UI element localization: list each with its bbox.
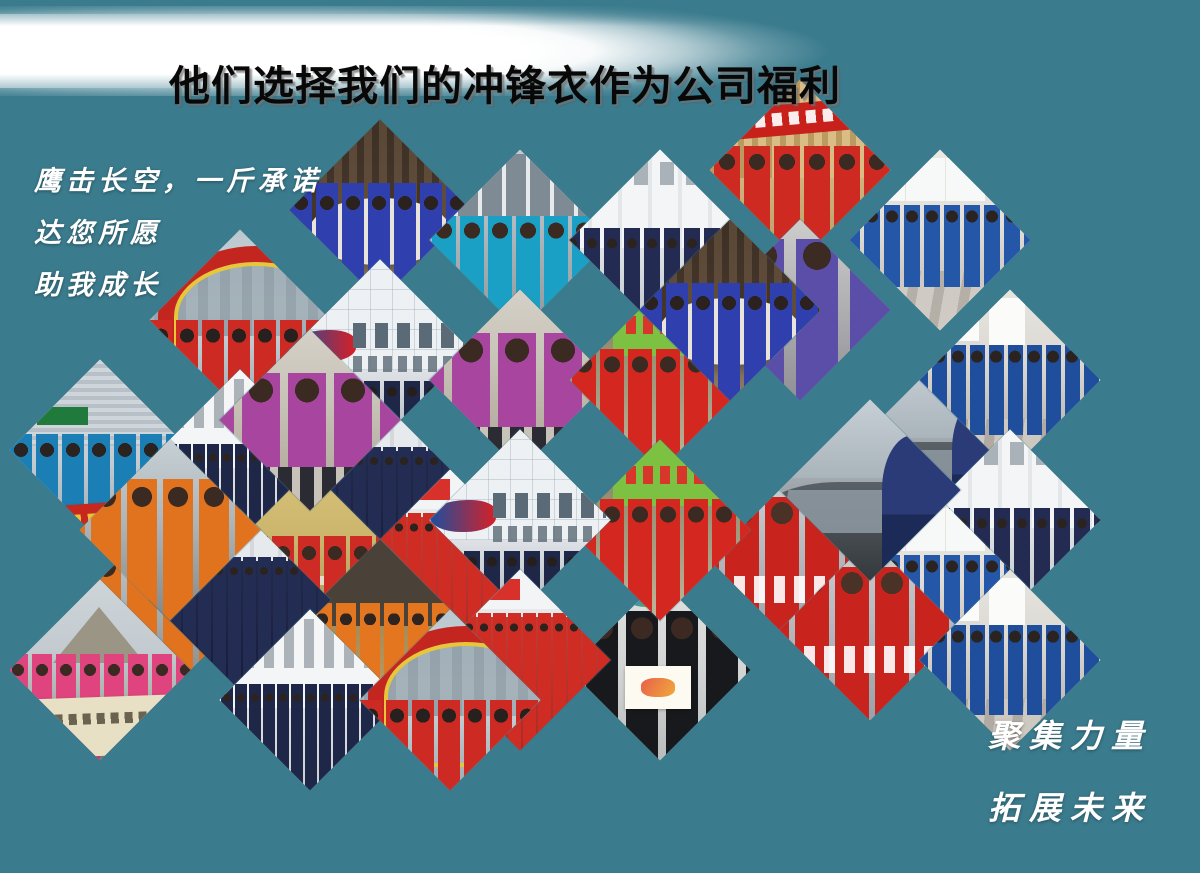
- slogan-right: 聚集力量 拓展未来: [988, 700, 1152, 844]
- page-title: 他们选择我们的冲锋衣作为公司福利: [0, 52, 1010, 112]
- photo-layer-banner: [21, 695, 180, 759]
- slogan-right-line-1: 聚集力量: [988, 700, 1152, 772]
- promo-banner: 他们选择我们的冲锋衣作为公司福利 鹰击长空，一斤承诺 达您所愿 助我成长 聚集力…: [0, 0, 1200, 873]
- photo-layer-crowd: [359, 700, 540, 791]
- photo-layer-sign: [37, 407, 88, 425]
- photo-layer-zgtsub: [493, 526, 595, 542]
- photo-layer-crowd2: [849, 205, 1030, 287]
- photo-layer-card: [625, 666, 692, 709]
- slogan-left-line-3: 助我成长: [34, 260, 322, 312]
- slogan-left-line-1: 鹰击长空，一斤承诺: [34, 156, 322, 208]
- slogan-left: 鹰击长空，一斤承诺 达您所愿 助我成长: [34, 156, 322, 312]
- photo-layer-zgttext: [493, 493, 607, 518]
- slogan-right-line-2: 拓展未来: [988, 772, 1152, 844]
- photo-layer-roof: [9, 359, 190, 446]
- photo-layer-zgttext: [353, 323, 467, 348]
- slogan-left-line-2: 达您所愿: [34, 208, 322, 260]
